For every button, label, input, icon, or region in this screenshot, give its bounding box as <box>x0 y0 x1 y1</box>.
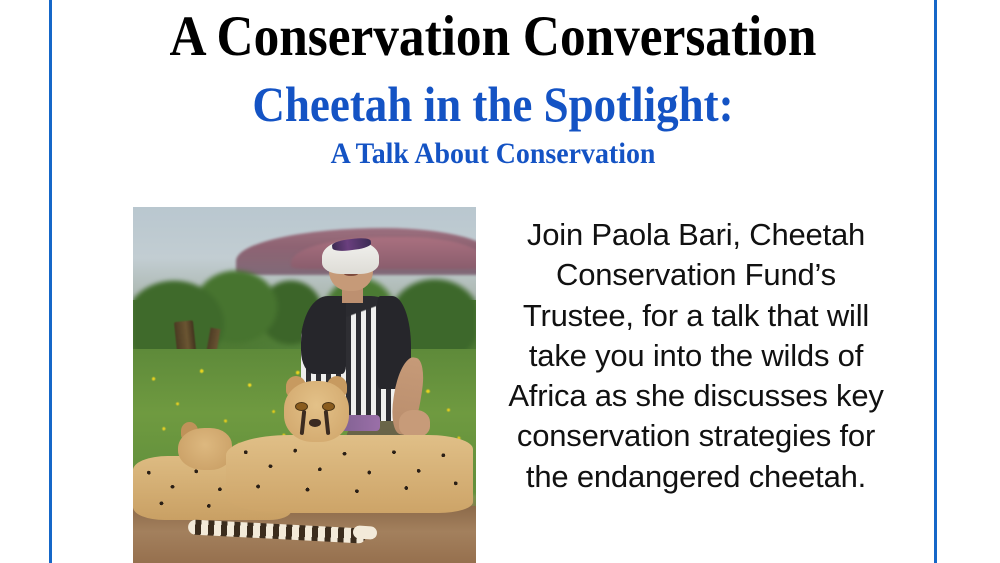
event-subtitle-secondary: A Talk About Conservation <box>83 138 903 170</box>
photo-cheetah-front-eye-left <box>296 403 307 410</box>
cheetah-photo-scene <box>133 207 476 563</box>
photo-cheetah-back-head <box>178 428 233 471</box>
photo-cheetah-front-head <box>284 381 349 442</box>
right-border-rule <box>934 0 937 563</box>
event-subtitle: Cheetah in the Spotlight: <box>96 78 890 130</box>
event-description-paragraph: Join Paola Bari, Cheetah Conservation Fu… <box>498 215 894 497</box>
photo-cheetah-front-body <box>226 435 473 513</box>
photo-person-hand-right <box>399 410 430 437</box>
event-flyer: cordially invite you to A Conservation C… <box>0 0 1000 563</box>
flyer-content-row: Join Paola Bari, Cheetah Conservation Fu… <box>52 207 934 563</box>
event-title: A Conservation Conversation <box>96 8 890 66</box>
photo-cheetah-tail-tip <box>352 525 377 539</box>
cheetah-photo <box>133 207 476 563</box>
flyer-header: cordially invite you to A Conservation C… <box>52 0 934 170</box>
